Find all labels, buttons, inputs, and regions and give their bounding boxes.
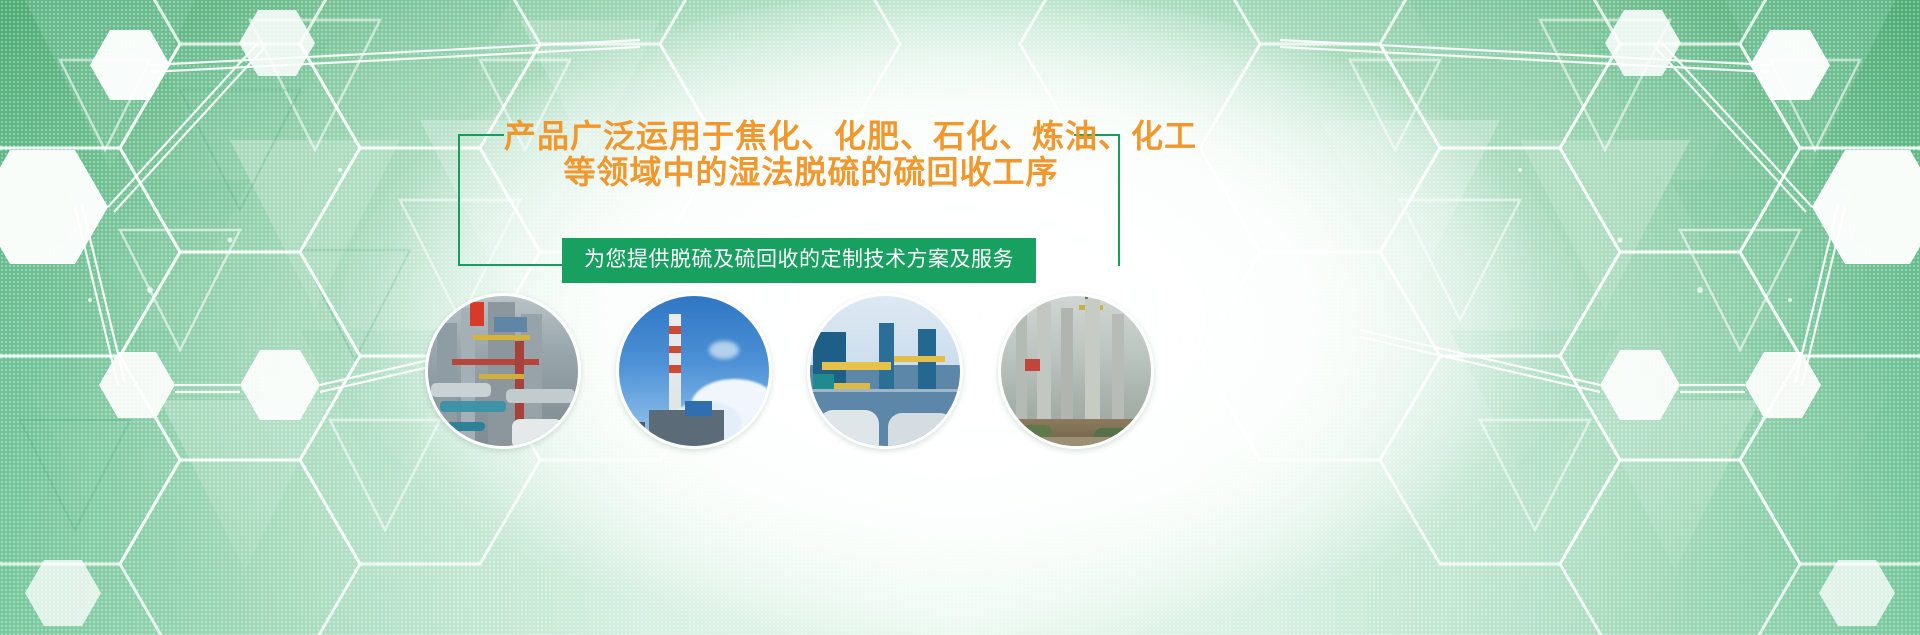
photo-refinery-towers[interactable] [998,293,1154,449]
headline-block: 产品广泛运用于焦化、化肥、石化、炼油、化工 等领域中的湿法脱硫的硫回收工序 为您… [458,118,1118,268]
bracket-left-line [458,134,460,266]
promo-banner: 产品广泛运用于焦化、化肥、石化、炼油、化工 等领域中的湿法脱硫的硫回收工序 为您… [0,0,1920,635]
photo-steel-platform[interactable] [807,293,963,449]
bracket-top-stub [458,134,504,136]
headline-line-1: 产品广泛运用于焦化、化肥、石化、炼油、化工 [504,118,1118,154]
subtitle-text: 为您提供脱硫及硫回收的定制技术方案及服务 [584,248,1014,271]
photo-gallery [425,293,1155,453]
bracket-bottom-stub [458,264,570,266]
photo-chimney-stack[interactable] [616,293,772,449]
photo-pipework-plant[interactable] [425,293,581,449]
headline-line-2: 等领域中的湿法脱硫的硫回收工序 [504,154,1118,190]
subtitle-badge: 为您提供脱硫及硫回收的定制技术方案及服务 [562,238,1036,283]
page-title: 产品广泛运用于焦化、化肥、石化、炼油、化工 等领域中的湿法脱硫的硫回收工序 [504,118,1118,190]
